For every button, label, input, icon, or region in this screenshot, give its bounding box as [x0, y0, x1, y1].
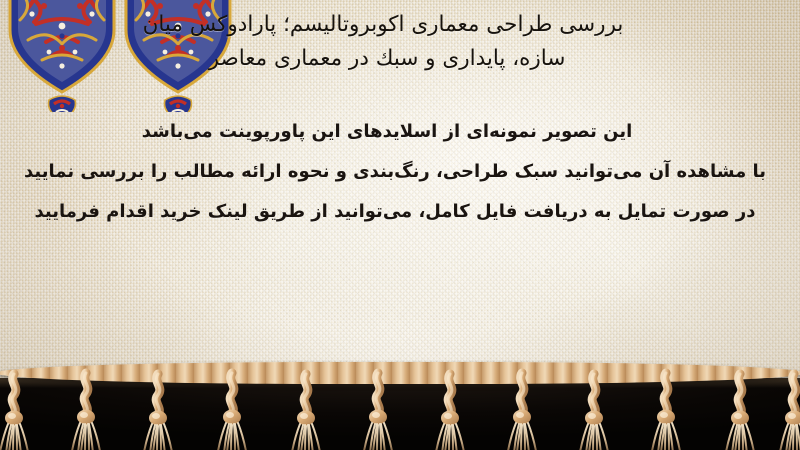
carpet-black-band: [0, 378, 800, 450]
slide-title: بررسی طراحی معماری اکوبروتالیسم؛ پارادوک…: [0, 8, 790, 76]
title-line-2: سازه، پایداری و سبك در معماری معاصر: [0, 42, 780, 76]
carpet-selvedge-cord: [0, 362, 800, 384]
title-line-1: بررسی طراحی معماری اکوبروتالیسم؛ پارادوک…: [0, 8, 780, 42]
slide-canvas: بررسی طراحی معماری اکوبروتالیسم؛ پارادوک…: [0, 0, 800, 450]
slide-body-text: این تصویر نمونه‌ای از اسلایدهای این پاور…: [0, 112, 800, 232]
body-line-3: در صورت تمایل به دریافت فایل کامل، می‌تو…: [0, 192, 800, 232]
body-line-1: این تصویر نمونه‌ای از اسلایدهای این پاور…: [0, 112, 800, 152]
body-line-2: با مشاهده آن می‌توانید سبک طراحی، رنگ‌بن…: [0, 152, 800, 192]
